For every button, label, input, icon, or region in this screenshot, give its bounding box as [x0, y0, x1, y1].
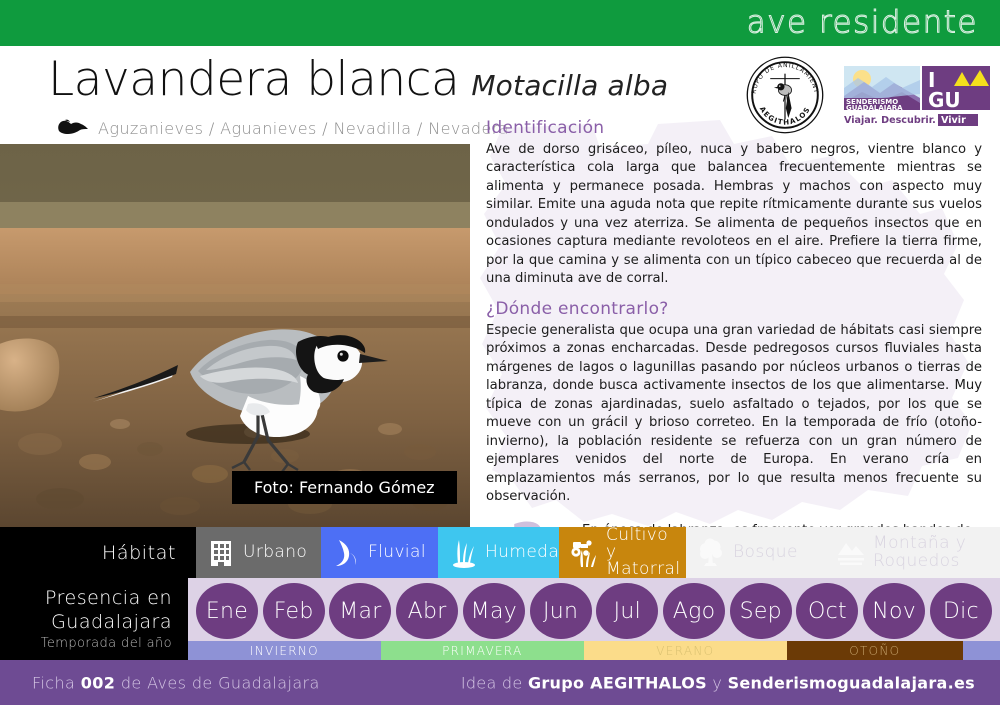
footer-number: 002	[81, 673, 116, 692]
season-bar: INVIERNO PRIMAVERA VERANO OTOÑO	[188, 641, 1000, 660]
presence-title-line1: Presencia en	[45, 587, 172, 610]
month-sep[interactable]: Sep	[730, 583, 792, 639]
season-invierno-wrap	[963, 641, 1000, 660]
page-title: Lavandera blanca	[48, 56, 459, 103]
month-mar[interactable]: Mar	[329, 583, 391, 639]
residency-status-banner: ave residente	[0, 0, 1000, 46]
month-list: Ene Feb Mar Abr May Jun Jul Ago Sep Oct …	[196, 581, 992, 641]
svg-text:GUADALAJARA: GUADALAJARA	[846, 104, 903, 112]
alternate-names: Aguzanieves / Aguanieves / Nevadilla / N…	[98, 119, 509, 138]
residency-status-label: ave residente	[747, 4, 978, 40]
footer-prefix: Ficha	[32, 673, 81, 692]
habitat-item-montana-roquedos[interactable]: Montaña y Roquedos	[826, 527, 1000, 578]
wetland-reeds-icon	[448, 537, 478, 569]
month-ago[interactable]: Ago	[663, 583, 725, 639]
habitat-label: Urbano	[243, 544, 307, 561]
footer-credits: Idea de Grupo AEGITHALOS y Senderismogua…	[461, 673, 975, 692]
section-body-where: Especie generalista que ocupa una gran v…	[486, 322, 982, 507]
photo-credit: Foto: Fernando Gómez	[232, 471, 457, 504]
habitat-label: Bosque	[733, 544, 798, 561]
month-ene[interactable]: Ene	[196, 583, 258, 639]
month-feb[interactable]: Feb	[263, 583, 325, 639]
footer-suffix: de Aves de Guadalajara	[115, 673, 319, 692]
species-title-wrap: Lavandera blancaMotacilla alba	[48, 56, 668, 103]
species-photo: Foto: Fernando Gómez	[0, 144, 470, 527]
season-otono: OTOÑO	[787, 641, 963, 660]
page-footer: Ficha 002 de Aves de Guadalajara Idea de…	[0, 660, 1000, 705]
footer-sheet-number: Ficha 002 de Aves de Guadalajara	[32, 673, 320, 692]
presence-subtitle: Temporada del año	[41, 636, 172, 651]
section-title-identification: Identificación	[486, 118, 982, 138]
habitat-label: Montaña y Roquedos	[873, 535, 966, 570]
section-body-identification: Ave de dorso grisáceo, píleo, nuca y bab…	[486, 141, 982, 289]
month-nov[interactable]: Nov	[863, 583, 925, 639]
habitat-item-cultivo-matorral[interactable]: Cultivo y Matorral	[559, 527, 686, 578]
alternate-names-row: Aguzanieves / Aguanieves / Nevadilla / N…	[55, 118, 509, 138]
habitat-label: Cultivo y Matorral	[606, 527, 680, 579]
month-abr[interactable]: Abr	[396, 583, 458, 639]
tree-icon	[696, 537, 726, 569]
habitat-label: Fluvial	[368, 544, 426, 561]
footer-org-senderismo[interactable]: Senderismoguadalajara.es	[728, 673, 975, 692]
habitat-bar-title: Hábitat	[0, 527, 196, 578]
footer-org-aegithalos[interactable]: Grupo AEGITHALOS	[528, 673, 707, 692]
scientific-name: Motacilla alba	[471, 69, 668, 102]
footer-credit-middle: y	[707, 673, 728, 692]
habitat-label: Humedal	[485, 544, 564, 561]
habitat-item-urbano[interactable]: Urbano	[196, 527, 321, 578]
season-primavera: PRIMAVERA	[381, 641, 584, 660]
month-dic[interactable]: Dic	[930, 583, 992, 639]
building-icon	[206, 537, 236, 569]
habitat-item-humedal[interactable]: Humedal	[438, 527, 559, 578]
river-wave-icon	[331, 537, 361, 569]
month-jun[interactable]: Jun	[530, 583, 592, 639]
month-jul[interactable]: Jul	[596, 583, 658, 639]
description-column: Identificación Ave de dorso grisáceo, pí…	[472, 118, 992, 530]
tractor-crops-icon	[569, 537, 599, 569]
month-may[interactable]: May	[463, 583, 525, 639]
habitat-bar: Hábitat Urbano Fluvial	[0, 527, 1000, 578]
month-oct[interactable]: Oct	[796, 583, 858, 639]
mountain-icon	[836, 537, 866, 569]
season-verano: VERANO	[584, 641, 787, 660]
section-title-where: ¿Dónde encontrarlo?	[486, 299, 982, 319]
presence-title-line2: Guadalajara	[51, 611, 172, 634]
bird-silhouette-icon	[55, 118, 89, 138]
svg-text:GU: GU	[928, 88, 961, 112]
bird-fact-sheet: ave residente Lavandera blancaMotacilla …	[0, 0, 1000, 705]
season-invierno: INVIERNO	[188, 641, 381, 660]
habitat-item-fluvial[interactable]: Fluvial	[321, 527, 438, 578]
footer-credit-prefix: Idea de	[461, 673, 528, 692]
presence-title-block: Presencia en Guadalajara Temporada del a…	[0, 578, 188, 660]
white-wagtail-photo-illustration	[0, 144, 470, 527]
presence-section: Presencia en Guadalajara Temporada del a…	[0, 578, 1000, 660]
habitat-item-bosque[interactable]: Bosque	[686, 527, 826, 578]
